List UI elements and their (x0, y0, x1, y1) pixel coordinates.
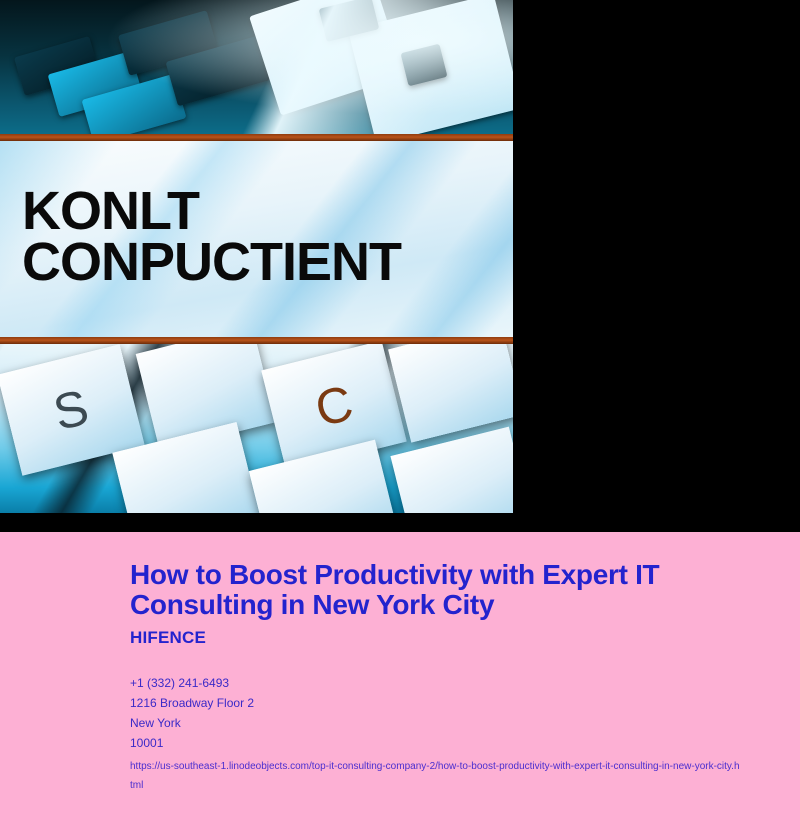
hero-keyboard-bottom-zone: S C (0, 344, 513, 513)
decorative-key (249, 0, 405, 116)
decorative-key (48, 51, 143, 117)
contact-phone[interactable]: +1 (332) 241-6493 (130, 674, 740, 694)
keycap-s-label: S (48, 378, 94, 442)
page-root: KONLT CONPUCTIENT S C How to Boost Produ… (0, 0, 800, 840)
decorative-key (319, 0, 380, 42)
article-url[interactable]: https://us-southeast-1.linodeobjects.com… (130, 758, 740, 795)
hero-headline-line2: CONPUCTIENT (22, 237, 401, 288)
decorative-key (118, 10, 218, 76)
contact-street: 1216 Broadway Floor 2 (130, 694, 740, 714)
decorative-key (14, 36, 100, 96)
hero-banner-image: KONLT CONPUCTIENT S C (0, 0, 513, 513)
decorative-key (400, 44, 447, 87)
hero-divider-bar-bottom (0, 337, 513, 344)
decorative-key (166, 36, 271, 107)
keycap-c-label: C (309, 373, 358, 438)
hero-divider-bar-top (0, 134, 513, 141)
decorative-keycap (388, 344, 513, 443)
content-panel: How to Boost Productivity with Expert IT… (0, 532, 800, 840)
page-title: How to Boost Productivity with Expert IT… (130, 560, 730, 620)
contact-city: New York (130, 714, 740, 734)
brand-name: HIFENCE (130, 628, 740, 648)
contact-zip: 10001 (130, 734, 740, 754)
decorative-key (82, 74, 187, 138)
hero-headline: KONLT CONPUCTIENT (22, 186, 401, 288)
hero-keyboard-top-zone (0, 0, 513, 138)
contact-block: +1 (332) 241-6493 1216 Broadway Floor 2 … (130, 674, 740, 754)
decorative-keycap (390, 427, 513, 513)
decorative-key (348, 0, 513, 138)
